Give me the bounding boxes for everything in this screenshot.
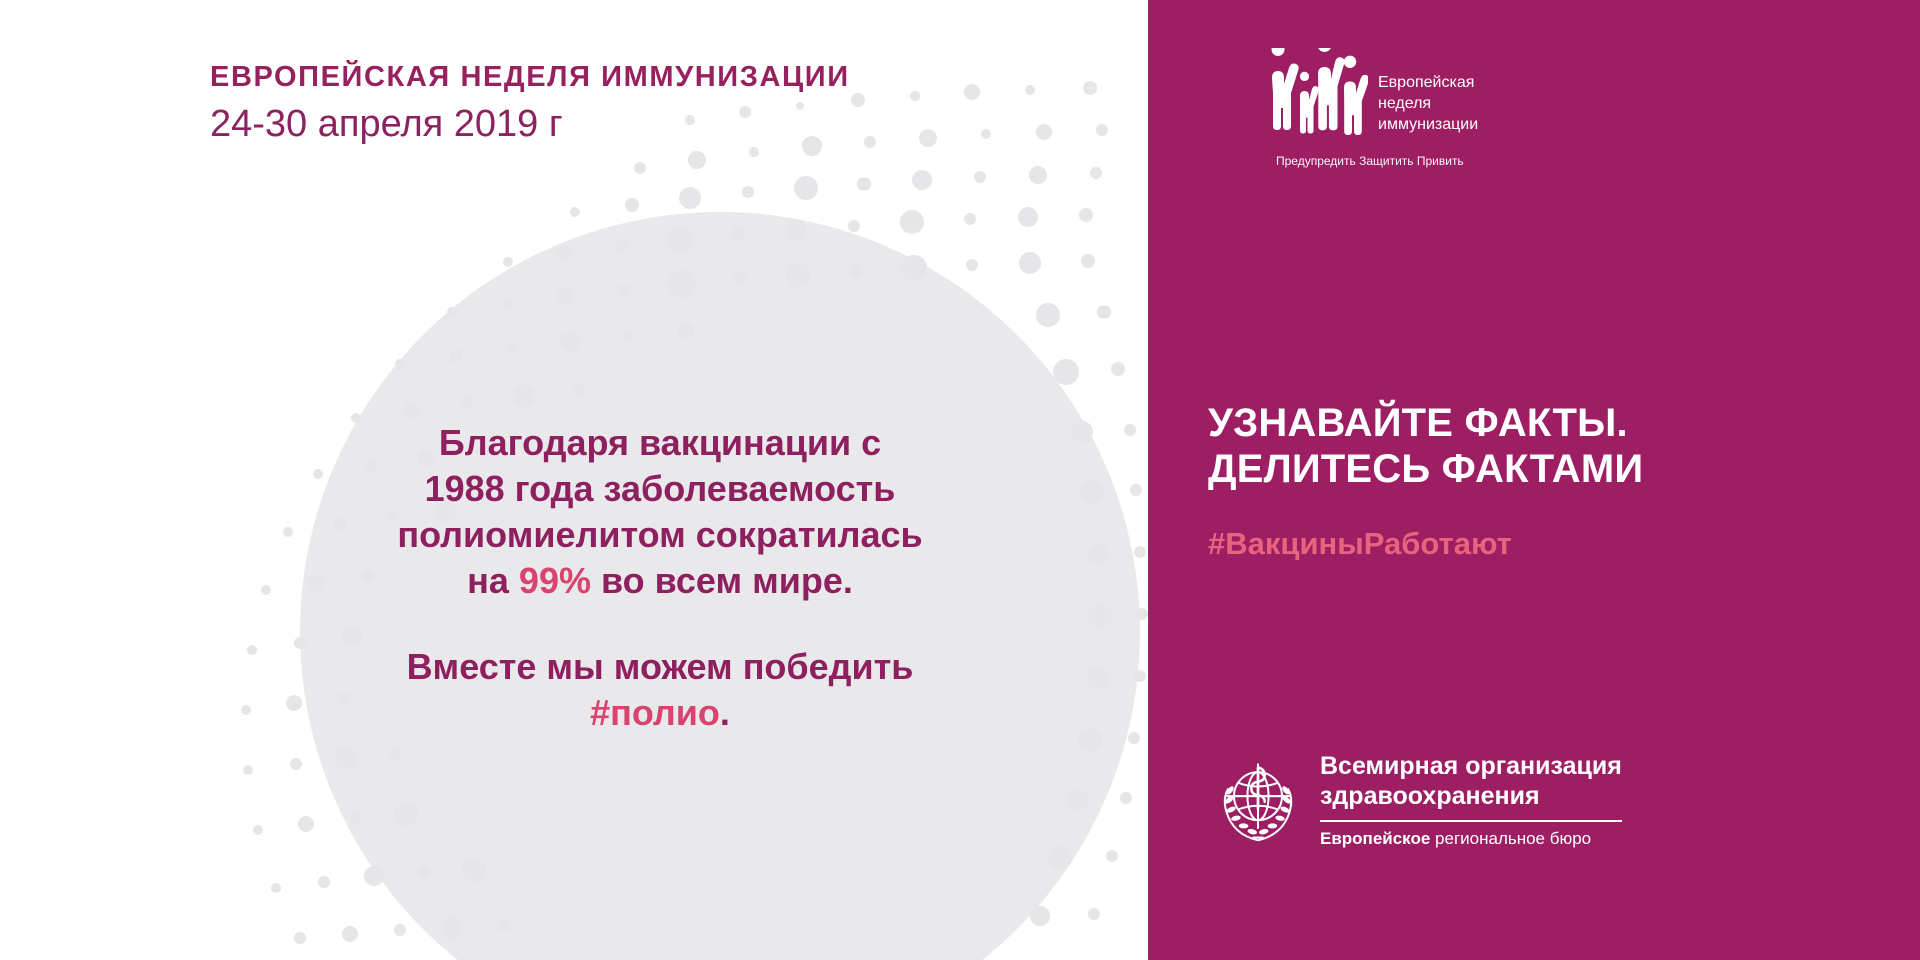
message-line-6: #полио. bbox=[300, 690, 1020, 736]
message-line-3: полиомиелитом сократилась bbox=[300, 512, 1020, 558]
cta-headline-line-1: УЗНАВАЙТЕ ФАКТЫ. bbox=[1208, 400, 1888, 446]
call-to-action: УЗНАВАЙТЕ ФАКТЫ. ДЕЛИТЕСЬ ФАКТАМИ #Вакци… bbox=[1208, 400, 1888, 561]
message-line-5: Вместе мы можем победить bbox=[300, 644, 1020, 690]
who-logo: Всемирная организация здравоохранения Ев… bbox=[1210, 752, 1622, 849]
who-divider bbox=[1320, 820, 1622, 822]
campaign-dates: 24-30 апреля 2019 г bbox=[210, 104, 1070, 146]
eiw-logo-line-2: неделя bbox=[1378, 93, 1478, 114]
right-brand-panel: Европейская неделя иммунизации Предупред… bbox=[1148, 0, 1920, 960]
cta-headline: УЗНАВАЙТЕ ФАКТЫ. ДЕЛИТЕСЬ ФАКТАМИ bbox=[1208, 400, 1888, 493]
cta-headline-line-2: ДЕЛИТЕСЬ ФАКТАМИ bbox=[1208, 446, 1888, 492]
message-line-2: 1988 года заболеваемость bbox=[300, 466, 1020, 512]
campaign-hashtag[interactable]: #ВакциныРаботают bbox=[1208, 527, 1888, 561]
message-spacer bbox=[300, 604, 1020, 644]
left-content-panel: ЕВРОПЕЙСКАЯ НЕДЕЛЯ ИММУНИЗАЦИИ 24-30 апр… bbox=[0, 0, 1148, 960]
who-office-rest: региональное бюро bbox=[1430, 829, 1591, 848]
statistic-value: 99% bbox=[519, 560, 591, 601]
who-regional-office: Европейское региональное бюро bbox=[1320, 829, 1622, 849]
eiw-tagline: Предупредить Защитить Привить bbox=[1276, 154, 1464, 168]
message-line-4: на 99% во всем мире. bbox=[300, 558, 1020, 604]
message-line-4-suffix: во всем мире. bbox=[591, 560, 853, 601]
message-line-6-suffix: . bbox=[720, 692, 730, 733]
who-logo-text: Всемирная организация здравоохранения Ев… bbox=[1320, 752, 1622, 849]
message-line-1: Благодаря вакцинации с bbox=[300, 420, 1020, 466]
raised-hands-people-icon bbox=[1258, 48, 1368, 148]
polio-hashtag[interactable]: #полио bbox=[590, 692, 720, 733]
eiw-logo-row: Европейская неделя иммунизации bbox=[1258, 48, 1478, 148]
who-office-bold: Европейское bbox=[1320, 829, 1430, 848]
page-title: ЕВРОПЕЙСКАЯ НЕДЕЛЯ ИММУНИЗАЦИИ bbox=[210, 62, 1070, 94]
eiw-logo-line-3: иммунизации bbox=[1378, 114, 1478, 135]
campaign-header: ЕВРОПЕЙСКАЯ НЕДЕЛЯ ИММУНИЗАЦИИ 24-30 апр… bbox=[210, 62, 1070, 146]
poster-canvas: ЕВРОПЕЙСКАЯ НЕДЕЛЯ ИММУНИЗАЦИИ 24-30 апр… bbox=[0, 0, 1920, 960]
eiw-logo: Европейская неделя иммунизации Предупред… bbox=[1258, 48, 1478, 168]
who-name-line-2: здравоохранения bbox=[1320, 782, 1622, 812]
eiw-logo-line-1: Европейская bbox=[1378, 72, 1478, 93]
who-emblem-icon bbox=[1210, 752, 1306, 848]
message-line-4-prefix: на bbox=[467, 560, 519, 601]
who-name-line-1: Всемирная организация bbox=[1320, 752, 1622, 782]
eiw-logo-text: Европейская неделя иммунизации bbox=[1378, 72, 1478, 135]
key-message: Благодаря вакцинации с 1988 года заболев… bbox=[300, 420, 1020, 736]
